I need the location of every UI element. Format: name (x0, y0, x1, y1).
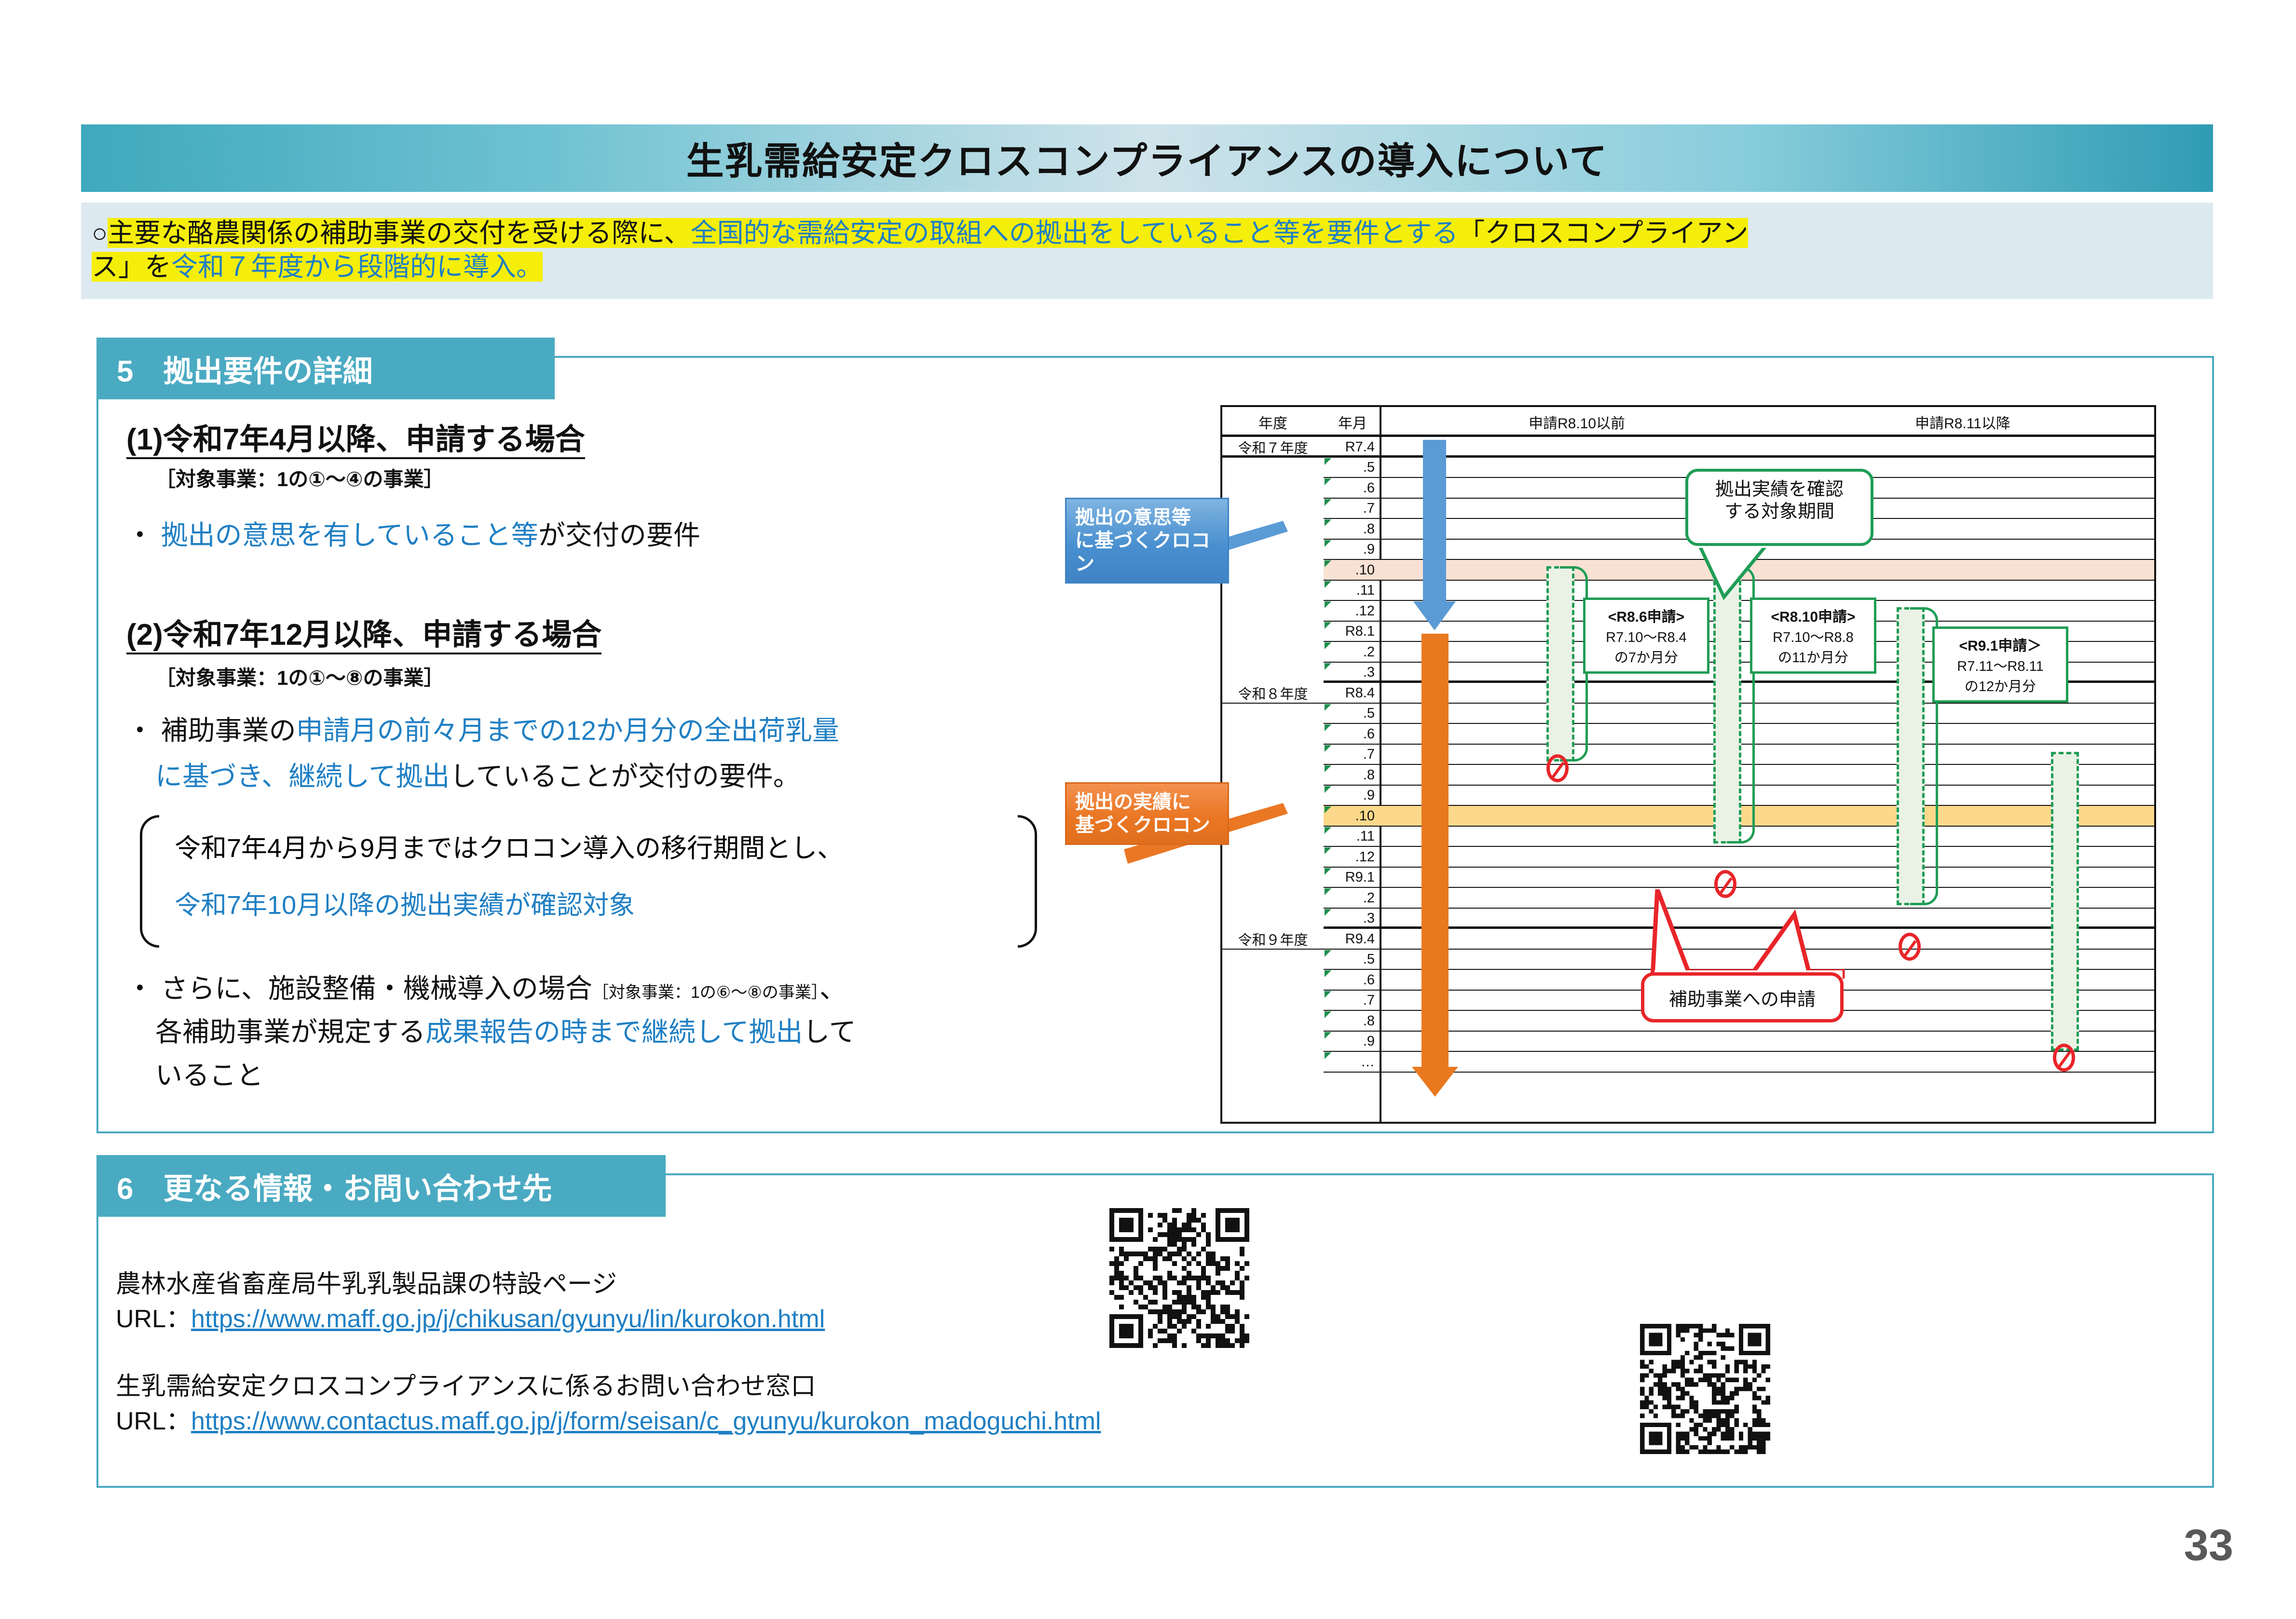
timeline-row: .9 (1222, 786, 2154, 806)
timeline-month-cell: R9.4 (1324, 929, 1381, 950)
contact-entry1-url-label: URL： (116, 1305, 191, 1333)
timeline-fiscal-year-cell (1222, 991, 1324, 1011)
section5-item3-line1-small: ［対象事業：1の⑥〜⑧の事業］ (592, 983, 820, 1002)
green-corner-marker-icon (1325, 970, 1331, 977)
timeline-row: .7 (1222, 745, 2154, 765)
bracket-line-2: 令和7年10月以降の拠出実績が確認対象 (175, 884, 635, 922)
header-apply-before: 申請R8.10以前 (1381, 407, 1772, 437)
section6-tab-label: 6 更なる情報・お問い合わせ先 (117, 1164, 552, 1208)
section5-item3-line2: 各補助事業が規定する成果報告の時まで継続して拠出して (155, 1010, 856, 1049)
timeline-fiscal-year-cell (1222, 745, 1324, 765)
timeline-fiscal-year-cell (1222, 478, 1324, 499)
callout-r91-range: R7.11〜R8.11 (1941, 655, 2060, 675)
timeline-fiscal-year-cell: 令和７年度 (1222, 437, 1324, 458)
timeline-row: .11 (1222, 827, 2154, 847)
timeline-month-cell: .2 (1324, 888, 1381, 909)
green-corner-marker-icon (1325, 1011, 1331, 1018)
section5-item3-line1: ・ さらに、施設整備・機械導入の場合［対象事業：1の⑥〜⑧の事業］、 (126, 967, 847, 1006)
timeline-fiscal-year-cell (1222, 458, 1324, 478)
callout-r86-title: <R8.6申請> (1591, 605, 1701, 626)
no-entry-mark-2 (1714, 870, 1736, 898)
section5-item1-bullet: ・ 拠出の意思を有していること等が交付の要件 (126, 514, 700, 553)
section5-item2-heading: (2)令和7年12月以降、申請する場合 (126, 610, 601, 653)
slide-page: 生乳需給安定クロスコンプライアンスの導入について ○主要な酪農関係の補助事業の交… (0, 0, 2296, 1619)
intro-line-2-black-a: ス」を (92, 252, 171, 282)
no-entry-mark-1 (1546, 754, 1569, 782)
section5-item1-heading-text: (1)令和7年4月以降、申請する場合 (126, 423, 585, 459)
timeline-month-cell: .6 (1324, 724, 1381, 745)
timeline-fiscal-year-cell (1222, 724, 1324, 745)
label-intent-based-crocon: 拠出の意思等 に基づくクロコン (1065, 498, 1229, 584)
timeline-month-cell: .9 (1324, 786, 1381, 806)
section5-item3-line3: いること (155, 1054, 263, 1093)
callout-r810-title: <R8.10申請> (1758, 605, 1868, 626)
timeline-fiscal-year-cell (1222, 888, 1324, 909)
green-corner-marker-icon (1325, 786, 1331, 793)
section5-tab-label: 5 拠出要件の詳細 (117, 347, 372, 390)
intro-line-1: ○主要な酪農関係の補助事業の交付を受ける際に、全国的な需給安定の取組への拠出をし… (92, 217, 1748, 249)
green-corner-marker-icon (1325, 601, 1331, 608)
section5-item2-line1-black: 補助事業の (161, 715, 296, 746)
orange-arrow-head (1412, 1067, 1458, 1097)
timeline-month-cell: .10 (1324, 806, 1381, 827)
qr-code-maff-page-icon[interactable] (1109, 1208, 1249, 1348)
timeline-chart: 年度 年月 申請R8.10以前 申請R8.11以降 令和７年度R7.4.5.6.… (1220, 405, 2156, 1124)
section5-item3-bullet-mark: ・ (126, 973, 153, 1004)
timeline-fiscal-year-cell (1222, 765, 1324, 786)
timeline-month-cell: .12 (1324, 601, 1381, 622)
timeline-fiscal-year-cell (1222, 663, 1324, 683)
timeline-row: R9.1 (1222, 868, 2154, 888)
label-record-line2: 基づくクロコン (1075, 814, 1219, 837)
bubble-confirm-tail-icon (1695, 543, 1772, 601)
green-corner-marker-icon (1325, 1052, 1331, 1059)
timeline-fiscal-year-cell (1222, 622, 1324, 642)
intro-line-1-black-b: 「クロスコンプライアン (1458, 218, 1748, 248)
label-intent-line2: に基づくクロコン (1075, 529, 1219, 575)
section5-item1-heading: (1)令和7年4月以降、申請する場合 (126, 415, 585, 458)
green-corner-marker-icon (1325, 1032, 1331, 1039)
timeline-month-cell: .5 (1324, 458, 1381, 478)
timeline-month-cell: R9.1 (1324, 868, 1381, 888)
bubble-subsidy-tail-icon (1635, 889, 1857, 979)
timeline-month-cell: .8 (1324, 1011, 1381, 1032)
timeline-fiscal-year-cell (1222, 642, 1324, 663)
callout-r86-months: の7か月分 (1591, 646, 1701, 667)
timeline-row: .8 (1222, 765, 2154, 786)
transition-period-bracket: 令和7年4月から9月まではクロコン導入の移行期間とし、 令和7年10月以降の拠出… (140, 815, 1037, 948)
timeline-row: .6 (1222, 724, 2154, 745)
intro-line-2-blue: 令和７年度から段階的に導入。 (171, 252, 543, 282)
callout-r91-title: <R9.1申請＞ (1941, 634, 2060, 655)
section6-tab: 6 更なる情報・お問い合わせ先 (96, 1155, 666, 1217)
green-corner-marker-icon (1325, 622, 1331, 629)
timeline-month-cell: .5 (1324, 704, 1381, 724)
timeline-month-cell: .11 (1324, 827, 1381, 847)
section5-item3-line2-b: して (803, 1017, 856, 1047)
section5-item3-line1-b: 、 (820, 973, 847, 1004)
period-bar-r94 (2051, 752, 2079, 1051)
green-corner-marker-icon (1325, 991, 1331, 998)
section5-item2-target: ［対象事業：1の①〜⑧の事業］ (155, 662, 444, 691)
timeline-fiscal-year-cell (1222, 499, 1324, 519)
intro-line-1-blue: 全国的な需給安定の取組への拠出をしていること等を要件とする (691, 218, 1459, 248)
contact-entry1-url-link[interactable]: https://www.maff.go.jp/j/chikusan/gyunyu… (191, 1305, 825, 1333)
section5-item3-line1-a: さらに、施設整備・機械導入の場合 (161, 973, 592, 1004)
bracket-right (1018, 815, 1037, 948)
green-corner-marker-icon (1325, 724, 1331, 731)
header-fiscal-year: 年度 (1222, 407, 1324, 437)
timeline-row: .5 (1222, 704, 2154, 724)
callout-r91: <R9.1申請＞ R7.11〜R8.11 の12か月分 (1932, 626, 2068, 703)
timeline-month-cell: .7 (1324, 499, 1381, 519)
green-corner-marker-icon (1325, 909, 1331, 916)
green-corner-marker-icon (1325, 519, 1331, 526)
green-corner-marker-icon (1325, 581, 1331, 588)
callout-r810-range: R7.10〜R8.8 (1758, 626, 1868, 646)
bubble-subsidy-text: 補助事業への申請 (1669, 984, 1816, 1011)
qr-code-contact-form-icon[interactable] (1640, 1324, 1770, 1454)
bubble-confirm-line2: する対象期間 (1698, 501, 1861, 523)
timeline-month-cell: R7.4 (1324, 437, 1381, 458)
timeline-month-cell: .2 (1324, 642, 1381, 663)
timeline-month-cell: R8.4 (1324, 683, 1381, 704)
orange-record-arrow (1408, 634, 1462, 1097)
timeline-month-cell: .12 (1324, 847, 1381, 868)
timeline-month-cell: .6 (1324, 478, 1381, 499)
green-corner-marker-icon (1325, 868, 1331, 875)
green-corner-marker-icon (1325, 478, 1331, 485)
header-apply-after: 申請R8.11以降 (1772, 407, 2153, 437)
green-corner-marker-icon (1325, 847, 1331, 854)
intro-line-2: ス」を令和７年度から段階的に導入。 (92, 251, 543, 283)
contact-entry2-url-link[interactable]: https://www.contactus.maff.go.jp/j/form/… (191, 1407, 1101, 1435)
green-corner-marker-icon (1325, 704, 1331, 711)
no-entry-mark-3 (1899, 933, 1921, 961)
timeline-month-cell: .7 (1324, 745, 1381, 765)
timeline-month-cell: .6 (1324, 970, 1381, 991)
green-corner-marker-icon (1325, 806, 1331, 813)
timeline-month-cell: .9 (1324, 540, 1381, 560)
section5-item2-bullet-mark: ・ (126, 715, 153, 746)
green-corner-marker-icon (1325, 827, 1331, 834)
page-title: 生乳需給安定クロスコンプライアンスの導入について (686, 131, 1608, 185)
timeline-month-cell: .9 (1324, 1032, 1381, 1052)
label-record-based-crocon: 拠出の実績に 基づくクロコン (1065, 782, 1229, 845)
section5-item1-bullet-blue: 拠出の意思を有していること等 (161, 520, 538, 550)
orange-arrow-stem (1421, 634, 1449, 1067)
label-intent-line1: 拠出の意思等 (1075, 506, 1219, 529)
timeline-fiscal-year-cell (1222, 909, 1324, 929)
timeline-month-cell: .10 (1324, 560, 1381, 581)
bubble-confirm-period: 拠出実績を確認 する対象期間 (1685, 469, 1873, 546)
blue-arrow-stem (1423, 440, 1446, 601)
section5-item2-heading-text: (2)令和7年12月以降、申請する場合 (126, 618, 601, 654)
section5-item2-bullet-line1: ・ 補助事業の申請月の前々月までの12か月分の全出荷乳量 (126, 709, 839, 748)
timeline-fiscal-year-cell (1222, 1011, 1324, 1032)
section5-item2-bullet-line2: に基づき、継続して拠出していることが交付の要件。 (155, 755, 800, 794)
timeline-row: .10 (1222, 806, 2154, 827)
intro-bullet-mark: ○ (92, 218, 108, 248)
callout-r810: <R8.10申請> R7.10〜R8.8 の11か月分 (1750, 598, 1876, 674)
bracket-left (140, 815, 159, 948)
callout-r91-months: の12か月分 (1941, 675, 2060, 695)
timeline-month-cell: .7 (1324, 991, 1381, 1011)
bubble-confirm-line1: 拠出実績を確認 (1698, 478, 1861, 501)
section5-item3-line2-blue: 成果報告の時まで継続して拠出 (425, 1017, 803, 1047)
timeline-month-cell: .5 (1324, 950, 1381, 970)
section5-item2-line2-blue: に基づき、継続して拠出 (155, 761, 450, 791)
slide-title-banner: 生乳需給安定クロスコンプライアンスの導入について (81, 124, 2213, 192)
timeline-month-cell: .8 (1324, 519, 1381, 540)
timeline-fiscal-year-cell (1222, 1032, 1324, 1052)
timeline-month-cell: .3 (1324, 909, 1381, 929)
contact-entry2-name: 生乳需給安定クロスコンプライアンスに係るお問い合わせ窓口 (116, 1366, 816, 1402)
green-corner-marker-icon (1325, 663, 1331, 670)
green-corner-marker-icon (1325, 765, 1331, 772)
callout-r810-months: の11か月分 (1758, 646, 1868, 667)
page-number: 33 (2184, 1520, 2233, 1571)
timeline-fiscal-year-cell (1222, 601, 1324, 622)
green-corner-marker-icon (1325, 499, 1331, 506)
contact-entry1-url-row: URL：https://www.maff.go.jp/j/chikusan/gy… (116, 1298, 825, 1334)
intro-block: ○主要な酪農関係の補助事業の交付を受ける際に、全国的な需給安定の取組への拠出をし… (81, 203, 2213, 299)
bubble-subsidy-application: 補助事業への申請 (1641, 972, 1844, 1022)
timeline-fiscal-year-cell (1222, 868, 1324, 888)
callout-r86-range: R7.10〜R8.4 (1591, 626, 1701, 646)
timeline-row: .9 (1222, 540, 2154, 560)
timeline-fiscal-year-cell (1222, 704, 1324, 724)
timeline-row: .12 (1222, 847, 2154, 868)
green-corner-marker-icon (1325, 560, 1331, 567)
section5-item3-line2-a: 各補助事業が規定する (155, 1017, 425, 1047)
green-corner-marker-icon (1325, 642, 1331, 649)
green-corner-marker-icon (1325, 745, 1331, 752)
timeline-fiscal-year-cell (1222, 970, 1324, 991)
section5-item1-bullet-black: が交付の要件 (538, 520, 700, 550)
green-corner-marker-icon (1325, 888, 1331, 895)
contact-entry2-url-row: URL：https://www.contactus.maff.go.jp/j/f… (116, 1401, 1101, 1437)
green-corner-marker-icon (1325, 540, 1331, 547)
timeline-row: .9 (1222, 1032, 2154, 1052)
timeline-month-cell: .3 (1324, 663, 1381, 683)
timeline-month-cell: .8 (1324, 765, 1381, 786)
blue-arrow-head (1413, 601, 1456, 630)
section5-item2-line2-black: していることが交付の要件。 (450, 761, 800, 791)
timeline-row: .10 (1222, 560, 2154, 581)
timeline-fiscal-year-cell: 令和８年度 (1222, 683, 1324, 704)
timeline-fiscal-year-cell: 令和９年度 (1222, 929, 1324, 950)
timeline-header-row: 年度 年月 申請R8.10以前 申請R8.11以降 (1222, 407, 2154, 437)
no-entry-mark-4 (2053, 1044, 2075, 1072)
intro-line-1-black-a: 主要な酪農関係の補助事業の交付を受ける際に、 (108, 218, 690, 248)
green-corner-marker-icon (1325, 950, 1331, 957)
timeline-fiscal-year-cell (1222, 1052, 1324, 1073)
section5-item2-line1-blue: 申請月の前々月までの12か月分の全出荷乳量 (296, 715, 839, 746)
green-corner-marker-icon (1325, 458, 1331, 465)
section5-item1-target: ［対象事業：1の①〜④の事業］ (155, 463, 444, 492)
callout-r86: <R8.6申請> R7.10〜R8.4 の7か月分 (1583, 598, 1709, 674)
timeline-month-cell: R8.1 (1324, 622, 1381, 642)
contact-entry2-url-label: URL： (116, 1407, 191, 1435)
timeline-fiscal-year-cell (1222, 950, 1324, 970)
label-record-line1: 拠出の実績に (1075, 790, 1219, 814)
contact-entry1-name: 農林水産省畜産局牛乳乳製品課の特設ページ (116, 1264, 617, 1300)
blue-intent-arrow (1410, 440, 1459, 630)
bracket-line-1: 令和7年4月から9月まではクロコン導入の移行期間とし、 (175, 827, 843, 865)
timeline-month-cell: … (1324, 1052, 1381, 1073)
timeline-month-cell: .11 (1324, 581, 1381, 601)
timeline-row: … (1222, 1052, 2154, 1073)
section5-item1-bullet-mark: ・ (126, 520, 153, 550)
header-year-month: 年月 (1324, 407, 1381, 437)
section5-tab: 5 拠出要件の詳細 (96, 338, 555, 399)
timeline-row: 令和７年度R7.4 (1222, 437, 2154, 458)
